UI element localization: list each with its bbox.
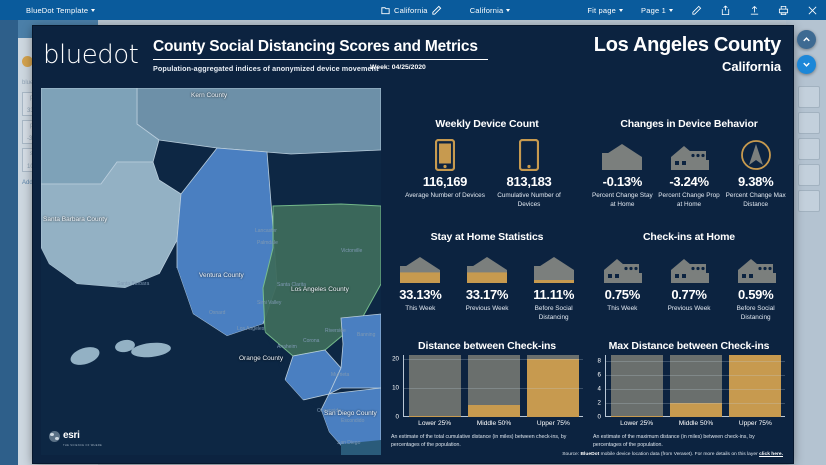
- x-axis-label: Upper 75%: [527, 420, 579, 427]
- fit-page-label: Fit page: [587, 6, 616, 15]
- bar-fill: [468, 405, 520, 417]
- house-gauge-icon: [456, 250, 519, 284]
- chart-title: Max Distance between Check-ins: [591, 340, 787, 352]
- map-label-santa-barbara: Santa Barbara County: [43, 216, 107, 223]
- map-city-lancaster: Lancaster: [255, 228, 277, 234]
- house-cluster-icon: [591, 250, 654, 284]
- stat-label: Cumulative Number of Devices: [489, 192, 569, 209]
- map-city-santa-barbara: Santa Barbara: [117, 281, 149, 287]
- source-middle: mobile device location data (from Verase…: [599, 452, 759, 457]
- scroll-down-button[interactable]: [797, 55, 816, 74]
- stat-pct-change-prop-at-home: -3.24% Percent Change Prop at Home: [658, 137, 721, 210]
- phone-filled-icon: [405, 137, 485, 171]
- bar[interactable]: [611, 355, 663, 417]
- scroll-up-button[interactable]: [797, 30, 816, 49]
- background-left-rail: [0, 20, 18, 465]
- stat-checkins-before-social-distancing: 0.59% Before Social Distancing: [724, 250, 787, 323]
- county-map[interactable]: Kern County Santa Barbara County Ventura…: [41, 88, 381, 455]
- background-right-button-2: [798, 112, 820, 134]
- dashboard-panel: bluedot County Social Distancing Scores …: [33, 26, 793, 463]
- y-axis-tick: 0: [598, 414, 601, 421]
- y-axis-tick: 4: [598, 385, 601, 392]
- bar-fill: [670, 403, 722, 417]
- background-step-badge: [22, 56, 33, 67]
- stat-value: 0.75%: [591, 288, 654, 302]
- background-right-button-5: [798, 190, 820, 212]
- stat-average-devices: 116,169 Average Number of Devices: [405, 137, 485, 210]
- map-city-riverside: Riverside: [325, 328, 346, 334]
- map-name: California: [470, 6, 504, 15]
- y-axis: 01020: [389, 355, 401, 417]
- map-city-oceanside: Oceanside: [317, 408, 341, 414]
- stat-value: 813,183: [489, 175, 569, 189]
- map-selector-dropdown[interactable]: California: [470, 6, 511, 15]
- esri-tagline: THE SCIENCE OF WHERE: [63, 444, 102, 447]
- dashboard-header: bluedot County Social Distancing Scores …: [33, 26, 793, 82]
- map-label-ventura: Ventura County: [199, 272, 244, 279]
- x-axis-label: Lower 25%: [611, 420, 663, 427]
- stat-value: 0.77%: [658, 288, 721, 302]
- y-axis-tick: 2: [598, 399, 601, 406]
- stat-label: Percent Change Max Distance: [724, 192, 787, 209]
- background-right-button-1: [798, 86, 820, 108]
- county-title: Los Angeles County: [594, 34, 781, 57]
- section-title: Changes in Device Behavior: [591, 118, 787, 130]
- chevron-down-icon: [619, 9, 623, 12]
- map-city-escondido: Escondido: [341, 418, 364, 424]
- y-axis-tick: 20: [392, 356, 399, 363]
- stat-value: -3.24%: [658, 175, 721, 189]
- map-label-orange: Orange County: [239, 355, 283, 362]
- stat-value: 11.11%: [522, 288, 585, 302]
- section-check-ins-at-home: Check-ins at Home: [591, 231, 787, 323]
- stat-value: -0.13%: [591, 175, 654, 189]
- chevron-down-icon: [801, 59, 812, 70]
- layer-icon: [380, 5, 391, 16]
- map-city-banning: Banning: [357, 332, 375, 338]
- bluedot-logo: bluedot: [43, 40, 138, 70]
- upload-icon[interactable]: [749, 5, 760, 16]
- y-axis-tick: 8: [598, 357, 601, 364]
- stat-label: Before Social Distancing: [724, 305, 787, 322]
- stat-pct-change-stay-at-home: -0.13% Percent Change Stay at Home: [591, 137, 654, 210]
- x-axis-label: Middle 50%: [468, 420, 520, 427]
- gridline: [605, 403, 785, 404]
- y-axis-tick: 6: [598, 371, 601, 378]
- section-changes-in-device-behavior: Changes in Device Behavior -0.13% Percen…: [591, 118, 787, 210]
- chart-note: An estimate of the total cumulative dist…: [389, 434, 585, 450]
- stat-label: Percent Change Stay at Home: [591, 192, 654, 209]
- y-axis-line: [605, 355, 606, 417]
- gridline: [403, 388, 583, 389]
- metrics-panel: Weekly Device Count 116,169 Average Numb…: [389, 88, 787, 459]
- gridline: [403, 359, 583, 360]
- map-city-anaheim: Anaheim: [277, 344, 297, 350]
- gridline: [605, 375, 785, 376]
- x-axis-label: Upper 75%: [729, 420, 781, 427]
- stat-value: 33.17%: [456, 288, 519, 302]
- map-city-palmdale: Palmdale: [257, 240, 278, 246]
- stat-stay-home-before-social-distancing: 11.11% Before Social Distancing: [522, 250, 585, 323]
- stat-checkins-this-week: 0.75% This Week: [591, 250, 654, 323]
- stat-cumulative-devices: 813,183 Cumulative Number of Devices: [489, 137, 569, 210]
- x-axis-label: Middle 50%: [670, 420, 722, 427]
- bar[interactable]: [527, 355, 579, 417]
- chevron-down-icon: [506, 9, 510, 12]
- share-icon[interactable]: [720, 5, 731, 16]
- page-title: County Social Distancing Scores and Metr…: [153, 38, 488, 60]
- bar[interactable]: [670, 355, 722, 417]
- stat-value: 116,169: [405, 175, 485, 189]
- stat-label: Previous Week: [658, 305, 721, 314]
- state-title: California: [722, 59, 781, 74]
- chevron-up-icon: [801, 34, 812, 45]
- y-axis-tick: 0: [396, 414, 399, 421]
- map-city-los-angeles: Los Angeles: [237, 326, 264, 332]
- background-right-button-4: [798, 164, 820, 186]
- house-icon: [591, 137, 654, 171]
- house-cluster-icon: [658, 250, 721, 284]
- map-city-santa-clarita: Santa Clarita: [277, 282, 306, 288]
- section-title: Weekly Device Count: [389, 118, 585, 130]
- top-app-bar: BlueDot Template California California F…: [0, 0, 826, 20]
- source-prefix: Source:: [562, 452, 580, 457]
- stat-label: Average Number of Devices: [405, 192, 485, 201]
- week-label: Week: 04/25/2020: [370, 64, 426, 71]
- gridline: [605, 361, 785, 362]
- stat-label: Percent Change Prop at Home: [658, 192, 721, 209]
- stat-value: 9.38%: [724, 175, 787, 189]
- chart-distance-between-checkins: Distance between Check-ins 01020 Lower 2…: [389, 340, 585, 450]
- stat-label: This Week: [591, 305, 654, 314]
- page-dropdown[interactable]: Page 1: [641, 6, 673, 15]
- chart-max-distance-between-checkins: Max Distance between Check-ins 02468 Low…: [591, 340, 787, 450]
- stat-value: 0.59%: [724, 288, 787, 302]
- map-city-simi-valley: Simi Valley: [257, 300, 281, 306]
- map-city-san-diego: San Diego: [337, 440, 360, 446]
- stat-stay-home-previous-week: 33.17% Previous Week: [456, 250, 519, 323]
- map-city-corona: Corona: [303, 338, 319, 344]
- section-stay-at-home-statistics: Stay at Home Statistics 33.13% T: [389, 231, 585, 323]
- section-title: Check-ins at Home: [591, 231, 787, 243]
- bar[interactable]: [409, 355, 461, 417]
- y-axis-tick: 10: [392, 385, 399, 392]
- background-right-button-3: [798, 138, 820, 160]
- bar[interactable]: [729, 355, 781, 417]
- chevron-down-icon: [91, 9, 95, 12]
- source-line: Source: BlueDot mobile device location d…: [562, 452, 783, 457]
- close-icon[interactable]: [807, 5, 818, 16]
- esri-attribution: esri THE SCIENCE OF WHERE: [49, 425, 102, 447]
- chart-title: Distance between Check-ins: [389, 340, 585, 352]
- map-city-murrieta: Murrieta: [331, 372, 349, 378]
- phone-outline-icon: [489, 137, 569, 171]
- chart-note: An estimate of the maximum distance (in …: [591, 434, 787, 450]
- map-city-oxnard: Oxnard: [209, 310, 225, 316]
- gridline: [605, 389, 785, 390]
- stat-stay-home-this-week: 33.13% This Week: [389, 250, 452, 323]
- bar-fill: [729, 355, 781, 417]
- print-icon[interactable]: [778, 5, 789, 16]
- template-name: BlueDot Template: [26, 6, 88, 15]
- house-cluster-icon: [724, 250, 787, 284]
- x-axis-labels: Lower 25%Middle 50%Upper 75%: [405, 417, 583, 429]
- stat-pct-change-max-distance: 9.38% Percent Change Max Distance: [724, 137, 787, 210]
- chart-plot-area: 02468 Lower 25%Middle 50%Upper 75%: [605, 355, 785, 429]
- pencil-icon[interactable]: [691, 5, 702, 16]
- fit-page-dropdown[interactable]: Fit page: [587, 6, 623, 15]
- chart-bars: [405, 355, 583, 417]
- house-gauge-icon: [522, 250, 585, 284]
- chevron-down-icon: [669, 9, 673, 12]
- house-cluster-icon: [658, 137, 721, 171]
- chart-plot-area: 01020 Lower 25%Middle 50%Upper 75%: [403, 355, 583, 429]
- stat-label: Before Social Distancing: [522, 305, 585, 322]
- stat-checkins-previous-week: 0.77% Previous Week: [658, 250, 721, 323]
- map-label-kern: Kern County: [191, 92, 227, 99]
- source-link[interactable]: click here.: [759, 452, 783, 457]
- pencil-icon[interactable]: [431, 5, 442, 16]
- stat-label: This Week: [389, 305, 452, 314]
- source-brand: BlueDot: [580, 452, 599, 457]
- chart-bars: [607, 355, 785, 417]
- stat-label: Previous Week: [456, 305, 519, 314]
- map-city-victorville: Victorville: [341, 248, 362, 254]
- page-label: Page 1: [641, 6, 666, 15]
- house-gauge-icon: [389, 250, 452, 284]
- layer-selector[interactable]: California: [380, 5, 442, 16]
- section-weekly-device-count: Weekly Device Count 116,169 Average Numb…: [389, 118, 585, 210]
- template-dropdown[interactable]: BlueDot Template: [26, 6, 95, 15]
- compass-icon: [724, 137, 787, 171]
- section-title: Stay at Home Statistics: [389, 231, 585, 243]
- page-subtitle: Population-aggregated indices of anonymi…: [153, 64, 379, 73]
- stat-value: 33.13%: [389, 288, 452, 302]
- y-axis: 02468: [591, 355, 603, 417]
- bar[interactable]: [468, 355, 520, 417]
- x-axis-label: Lower 25%: [409, 420, 461, 427]
- x-axis-labels: Lower 25%Middle 50%Upper 75%: [607, 417, 785, 429]
- globe-icon: [49, 431, 60, 442]
- background-value-2: -3: [27, 136, 32, 142]
- layer-name: California: [394, 6, 428, 15]
- esri-wordmark: esri: [63, 430, 80, 441]
- y-axis-line: [403, 355, 404, 417]
